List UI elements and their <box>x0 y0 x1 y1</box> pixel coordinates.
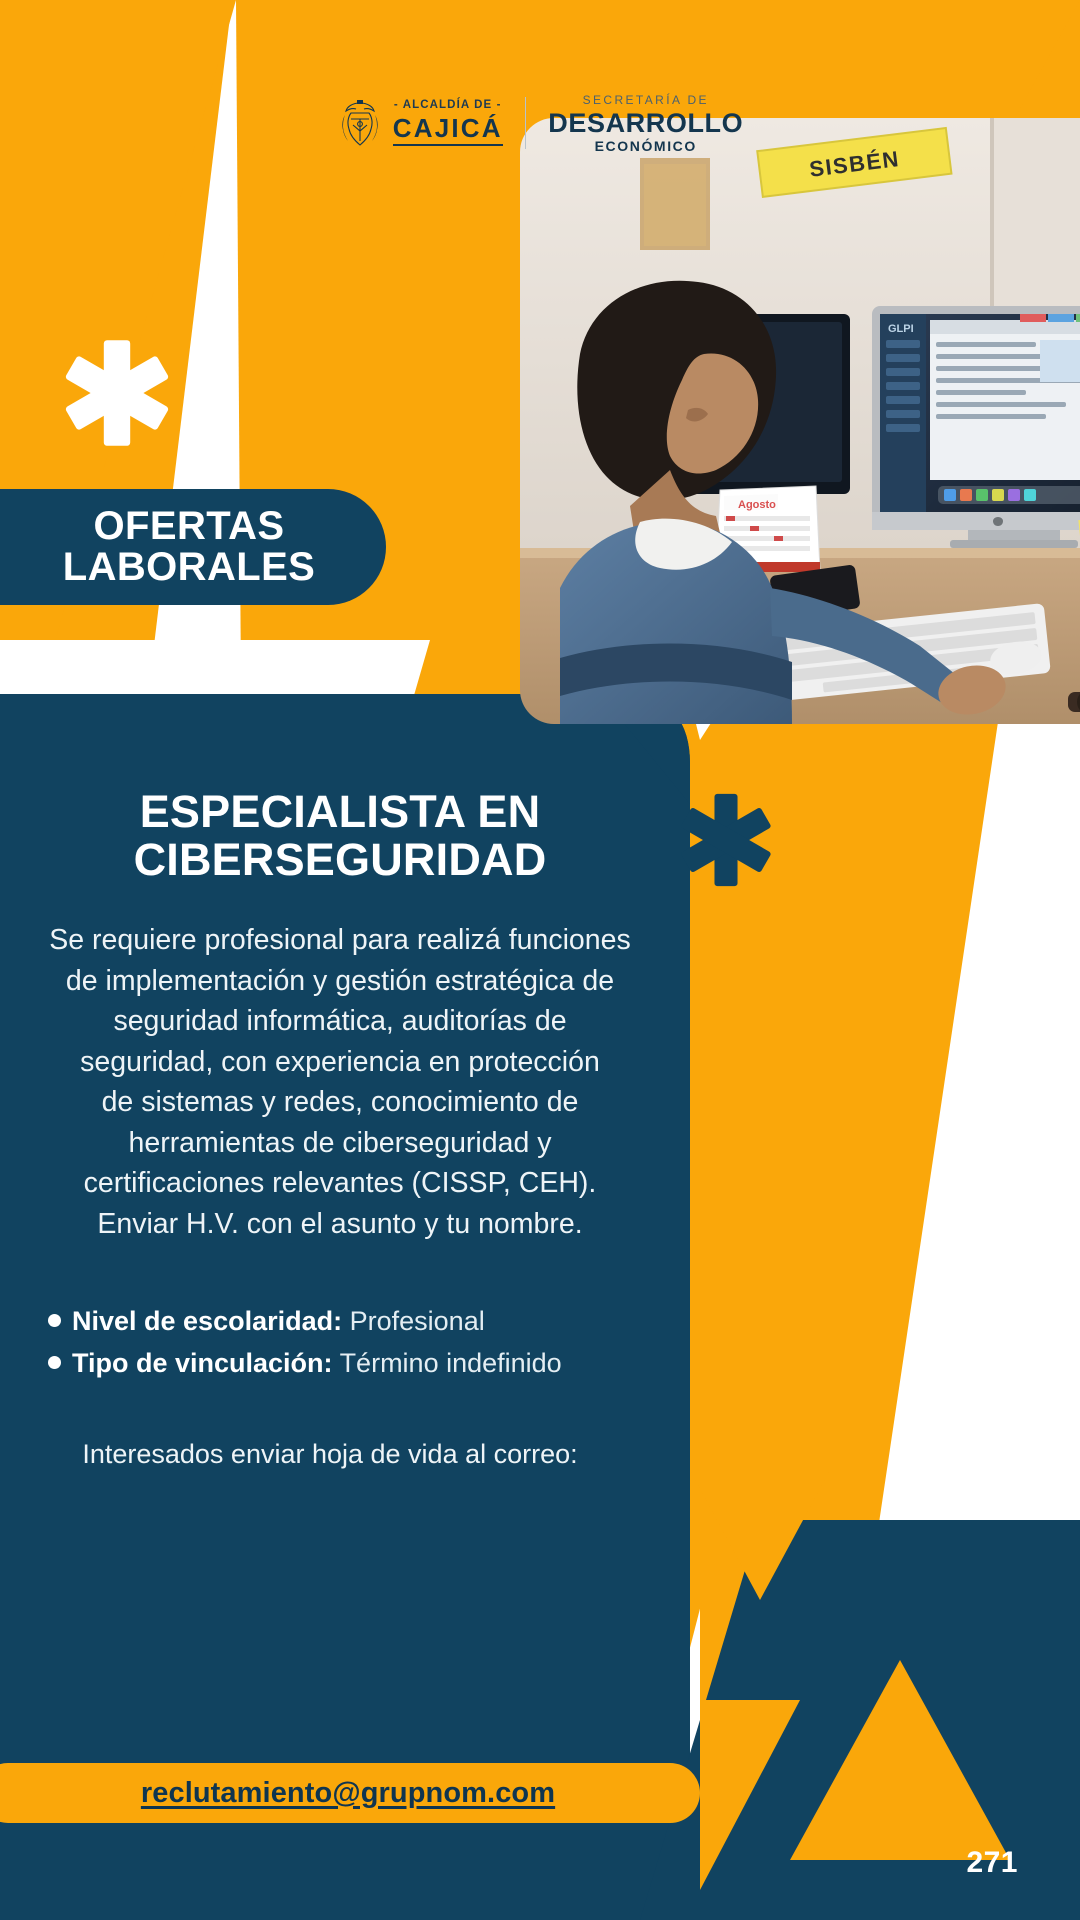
job-details-list: Nivel de escolaridad: Profesional Tipo d… <box>48 1302 650 1383</box>
bullet-dot-icon <box>48 1314 61 1327</box>
alcaldia-name: CAJICÁ <box>393 115 503 146</box>
secretaria-kicker: SECRETARÍA DE <box>583 94 709 106</box>
desc-line: de sistemas y redes, conocimiento de <box>44 1082 636 1122</box>
desc-line: seguridad informática, auditorías de <box>44 1001 636 1041</box>
desc-line: herramientas de ciberseguridad y <box>44 1123 636 1163</box>
svg-text:Agosto: Agosto <box>738 499 776 511</box>
list-item: Nivel de escolaridad: Profesional <box>48 1302 650 1340</box>
contact-email[interactable]: reclutamiento@grupnom.com <box>141 1777 555 1810</box>
email-cta-bar[interactable]: reclutamiento@grupnom.com <box>0 1763 700 1823</box>
poster-canvas: - ALCALDÍA DE - CAJICÁ SECRETARÍA DE DES… <box>0 0 1080 1920</box>
secretaria-subname: ECONÓMICO <box>595 139 697 153</box>
desc-line: de implementación y gestión estratégica … <box>44 961 636 1001</box>
job-title: ESPECIALISTA EN CIBERSEGURIDAD <box>30 788 650 884</box>
asterisk-icon <box>678 792 774 888</box>
svg-text:GLPI: GLPI <box>888 323 914 335</box>
ofertas-laborales-badge: OFERTAS LABORALES <box>0 489 386 605</box>
asterisk-icon <box>62 338 172 448</box>
job-title-line-1: ESPECIALISTA EN <box>30 788 650 836</box>
badge-line-1: OFERTAS <box>63 506 316 547</box>
list-item: Tipo de vinculación: Término indefinido <box>48 1344 650 1382</box>
desc-line: certificaciones relevantes (CISSP, CEH). <box>44 1163 636 1203</box>
desc-line: seguridad, con experiencia en protección <box>44 1042 636 1082</box>
badge-label: OFERTAS LABORALES <box>63 506 316 588</box>
job-title-line-2: CIBERSEGURIDAD <box>30 836 650 884</box>
job-content: ESPECIALISTA EN CIBERSEGURIDAD Se requie… <box>0 760 680 1470</box>
detail-value: Término indefinido <box>340 1348 562 1378</box>
detail-label: Nivel de escolaridad: <box>72 1306 342 1336</box>
secretaria-logo: SECRETARÍA DE DESARROLLO ECONÓMICO <box>548 94 743 153</box>
job-description: Se requiere profesional para realizá fun… <box>44 920 636 1244</box>
logo-divider <box>525 97 527 149</box>
contact-prompt: Interesados enviar hoja de vida al corre… <box>40 1439 620 1470</box>
desc-line: Enviar H.V. con el asunto y tu nombre. <box>44 1204 636 1244</box>
detail-value: Profesional <box>350 1306 485 1336</box>
badge-line-2: LABORALES <box>63 547 316 588</box>
cajica-coat-of-arms-icon <box>337 97 383 149</box>
alcaldia-kicker: - ALCALDÍA DE - <box>394 100 502 112</box>
secretaria-name: DESARROLLO <box>548 110 743 137</box>
office-worker-at-computer-photo: SISBÉN GLPI <box>520 118 1080 724</box>
alcaldia-logo: - ALCALDÍA DE - CAJICÁ <box>337 97 503 149</box>
detail-label: Tipo de vinculación: <box>72 1348 333 1378</box>
page-number: 271 <box>966 1846 1018 1880</box>
bullet-dot-icon <box>48 1356 61 1369</box>
desc-line: Se requiere profesional para realizá fun… <box>44 920 636 960</box>
header-logos: - ALCALDÍA DE - CAJICÁ SECRETARÍA DE DES… <box>0 88 1080 158</box>
